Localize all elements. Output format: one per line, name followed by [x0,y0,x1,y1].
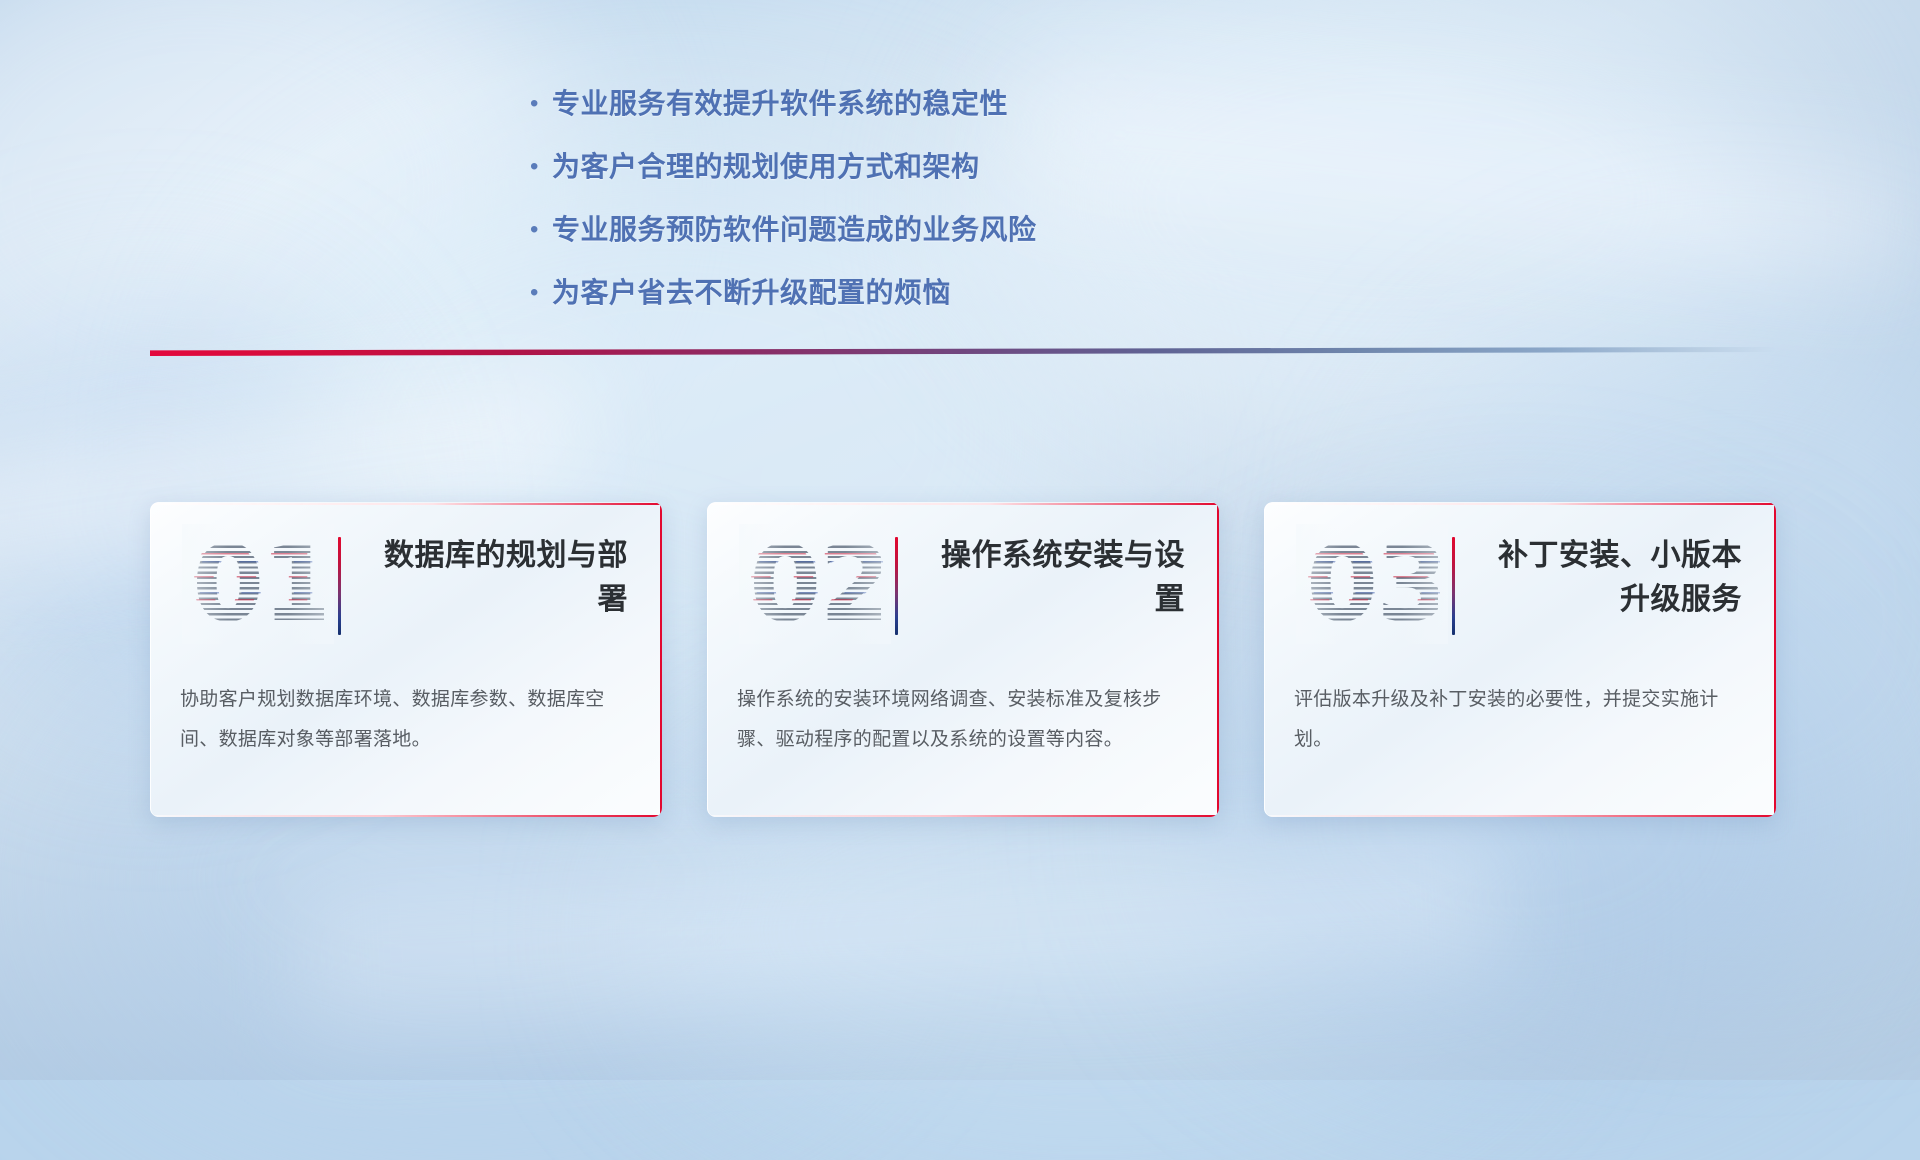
list-item: • 专业服务有效提升软件系统的稳定性 [530,82,1430,126]
card-header: 03 03 03 补丁安装、小版本升级服务 [1294,534,1746,646]
card-title: 数据库的规划与部署 [362,534,632,622]
bullet-list: • 专业服务有效提升软件系统的稳定性 • 为客户合理的规划使用方式和架构 • 专… [530,82,1430,334]
bullet-text: 专业服务预防软件问题造成的业务风险 [552,208,1037,252]
card-number: 02 02 02 [749,530,881,638]
bullet-dot-icon: • [530,208,552,252]
card-description: 评估版本升级及补丁安装的必要性，并提交实施计划。 [1294,680,1746,760]
service-card[interactable]: 01 01 01 数据库的规划与部署 协助客户规划数据库环境、数据库参数、数据库… [150,502,662,817]
divider-line [150,347,1776,356]
bullet-text: 为客户合理的规划使用方式和架构 [552,145,980,189]
card-title-divider [1452,537,1455,635]
bullet-text: 专业服务有效提升软件系统的稳定性 [552,82,1008,126]
card-header: 01 01 01 数据库的规划与部署 [180,534,632,646]
card-header: 02 02 02 操作系统安装与设置 [737,534,1189,646]
list-item: • 为客户省去不断升级配置的烦恼 [530,271,1430,315]
card-description: 协助客户规划数据库环境、数据库参数、数据库空间、数据库对象等部署落地。 [180,680,632,760]
list-item: • 为客户合理的规划使用方式和架构 [530,145,1430,189]
card-number: 01 01 01 [192,530,324,638]
bullet-text: 为客户省去不断升级配置的烦恼 [552,271,951,315]
card-title: 补丁安装、小版本升级服务 [1476,534,1746,622]
bullet-dot-icon: • [530,145,552,189]
bullet-dot-icon: • [530,82,552,126]
service-card-group: 01 01 01 数据库的规划与部署 协助客户规划数据库环境、数据库参数、数据库… [150,502,1776,746]
bullet-dot-icon: • [530,271,552,315]
card-title: 操作系统安装与设置 [919,534,1189,622]
card-number: 03 03 03 [1306,530,1438,638]
section-divider [150,344,1776,362]
card-number-layer: 02 [751,530,883,638]
card-description: 操作系统的安装环境网络调查、安装标准及复核步骤、驱动程序的配置以及系统的设置等内… [737,680,1189,760]
list-item: • 专业服务预防软件问题造成的业务风险 [530,208,1430,252]
card-number-layer: 01 [194,530,326,638]
service-card[interactable]: 02 02 02 操作系统安装与设置 操作系统的安装环境网络调查、安装标准及复核… [707,502,1219,817]
card-number-layer: 03 [1308,530,1440,638]
card-title-divider [338,537,341,635]
service-card[interactable]: 03 03 03 补丁安装、小版本升级服务 评估版本升级及补丁安装的必要性，并提… [1264,502,1776,817]
card-title-divider [895,537,898,635]
